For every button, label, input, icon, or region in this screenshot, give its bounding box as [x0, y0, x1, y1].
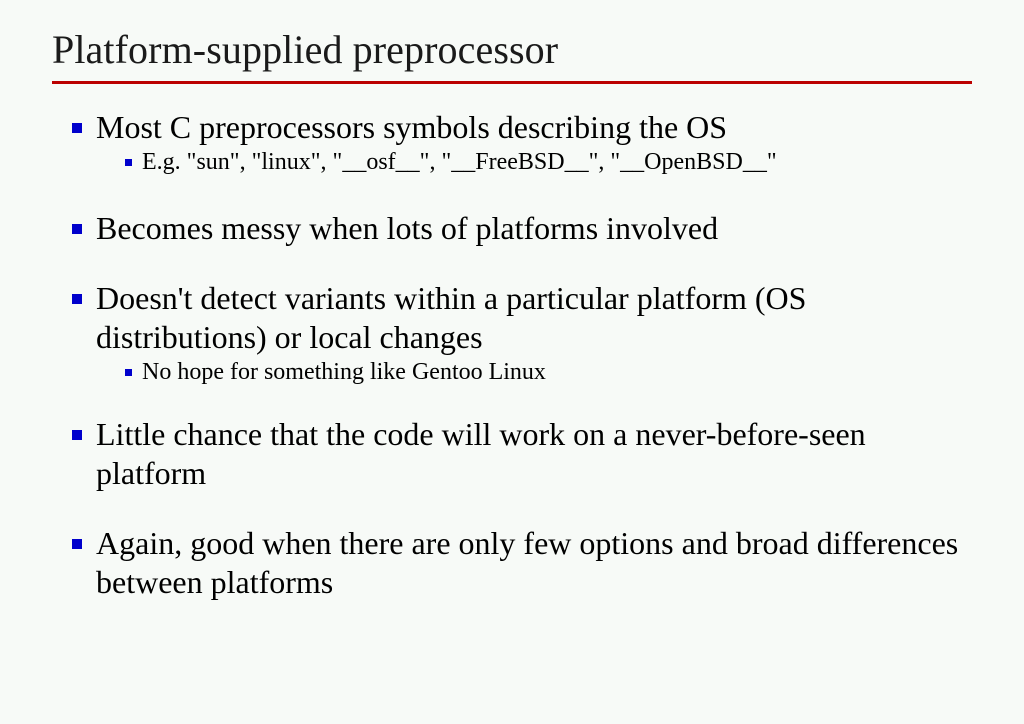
sub-bullet-text: No hope for something like Gentoo Linux [142, 357, 982, 388]
page-title: Platform-supplied preprocessor [52, 26, 972, 74]
sub-bullet-text: E.g. "sun", "linux", "__osf__", "__FreeB… [142, 147, 982, 178]
bullet-item-level1: Little chance that the code will work on… [52, 415, 982, 493]
spacer [52, 178, 982, 209]
title-underline-rule [52, 81, 972, 84]
small-square-bullet-icon [125, 159, 132, 166]
square-bullet-icon [72, 123, 82, 133]
bullet-text: Becomes messy when lots of platforms inv… [96, 209, 982, 248]
small-square-bullet-icon [125, 369, 132, 376]
square-bullet-icon [72, 539, 82, 549]
bullet-item-level1: Becomes messy when lots of platforms inv… [52, 209, 982, 248]
spacer [52, 493, 982, 524]
spacer [52, 388, 982, 415]
square-bullet-icon [72, 430, 82, 440]
bullet-text: Little chance that the code will work on… [96, 415, 982, 493]
bullet-group-2: Becomes messy when lots of platforms inv… [52, 209, 982, 248]
bullet-text: Again, good when there are only few opti… [96, 524, 982, 602]
bullet-group-5: Again, good when there are only few opti… [52, 524, 982, 602]
bullet-item-level1: Most C preprocessors symbols describing … [52, 108, 982, 147]
bullet-item-level1: Again, good when there are only few opti… [52, 524, 982, 602]
slide-canvas: Platform-supplied preprocessor Most C pr… [0, 0, 1024, 724]
bullet-group-3: Doesn't detect variants within a particu… [52, 279, 982, 388]
bullet-item-level1: Doesn't detect variants within a particu… [52, 279, 982, 357]
bullet-group-1: Most C preprocessors symbols describing … [52, 108, 982, 178]
spacer [52, 248, 982, 279]
square-bullet-icon [72, 224, 82, 234]
slide-title-area: Platform-supplied preprocessor [52, 26, 972, 84]
slide-body: Most C preprocessors symbols describing … [52, 108, 982, 602]
bullet-text: Doesn't detect variants within a particu… [96, 279, 982, 357]
bullet-group-4: Little chance that the code will work on… [52, 415, 982, 493]
bullet-item-level2: E.g. "sun", "linux", "__osf__", "__FreeB… [52, 147, 982, 178]
bullet-text: Most C preprocessors symbols describing … [96, 108, 982, 147]
square-bullet-icon [72, 294, 82, 304]
bullet-item-level2: No hope for something like Gentoo Linux [52, 357, 982, 388]
